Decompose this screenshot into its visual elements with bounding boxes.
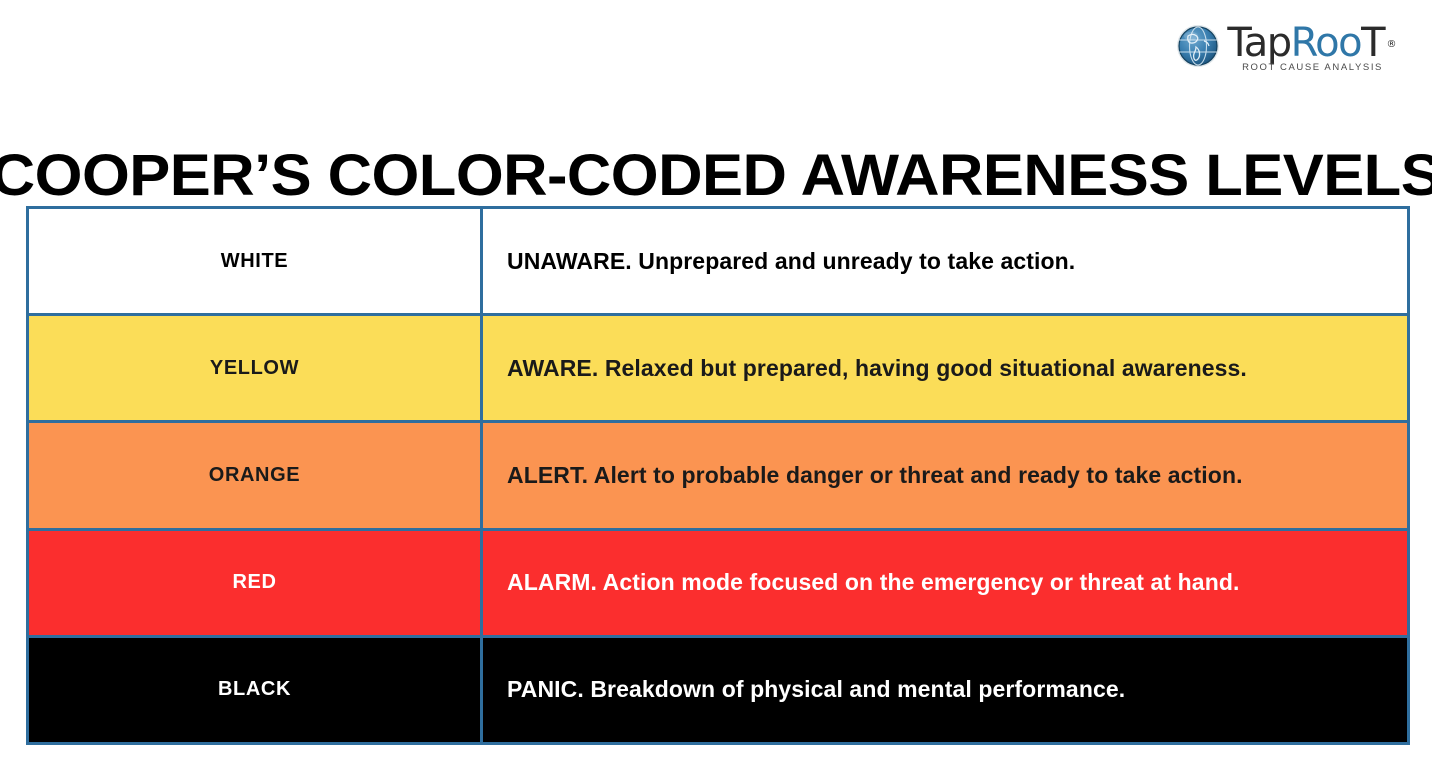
- description-cell-yellow: AWARE. Relaxed but prepared, having good…: [483, 316, 1407, 420]
- logo-wordmark: TapRooT®: [1227, 22, 1384, 64]
- awareness-levels-table: WHITE UNAWARE. Unprepared and unready to…: [26, 206, 1410, 745]
- description-cell-white: UNAWARE. Unprepared and unready to take …: [483, 209, 1407, 313]
- table-row: BLACK PANIC. Breakdown of physical and m…: [29, 638, 1407, 742]
- page-title: COOPER’S COLOR-CODED AWARENESS LEVELS: [0, 145, 1432, 207]
- infographic-page: TapRooT® ROOT CAUSE ANALYSIS COOPER’S CO…: [0, 0, 1432, 777]
- description-cell-orange: ALERT. Alert to probable danger or threa…: [483, 423, 1407, 527]
- table-row: ORANGE ALERT. Alert to probable danger o…: [29, 423, 1407, 527]
- logo-tagline: ROOT CAUSE ANALYSIS: [1242, 62, 1383, 73]
- logo-word-t: T: [1361, 20, 1384, 66]
- color-cell-orange: ORANGE: [29, 423, 480, 527]
- table-row: YELLOW AWARE. Relaxed but prepared, havi…: [29, 316, 1407, 420]
- logo-word-roo: Roo: [1291, 20, 1361, 66]
- color-cell-black: BLACK: [29, 638, 480, 742]
- table-row: RED ALARM. Action mode focused on the em…: [29, 531, 1407, 635]
- color-label: WHITE: [221, 250, 288, 273]
- globe-icon: [1176, 24, 1220, 68]
- table-row: WHITE UNAWARE. Unprepared and unready to…: [29, 209, 1407, 313]
- description-text: ALERT. Alert to probable danger or threa…: [507, 462, 1243, 489]
- color-label: ORANGE: [209, 464, 300, 487]
- color-cell-yellow: YELLOW: [29, 316, 480, 420]
- description-cell-red: ALARM. Action mode focused on the emerge…: [483, 531, 1407, 635]
- color-cell-red: RED: [29, 531, 480, 635]
- description-text: AWARE. Relaxed but prepared, having good…: [507, 355, 1247, 382]
- logo-word-tap: Tap: [1227, 20, 1290, 66]
- color-label: RED: [232, 571, 276, 594]
- color-cell-white: WHITE: [29, 209, 480, 313]
- taproot-logo: TapRooT® ROOT CAUSE ANALYSIS: [1176, 22, 1384, 74]
- description-text: ALARM. Action mode focused on the emerge…: [507, 569, 1240, 596]
- color-label: YELLOW: [210, 357, 299, 380]
- logo-text: TapRooT® ROOT CAUSE ANALYSIS: [1227, 22, 1384, 73]
- description-cell-black: PANIC. Breakdown of physical and mental …: [483, 638, 1407, 742]
- description-text: PANIC. Breakdown of physical and mental …: [507, 676, 1125, 703]
- color-label: BLACK: [218, 678, 291, 701]
- description-text: UNAWARE. Unprepared and unready to take …: [507, 248, 1075, 275]
- registered-trademark-icon: ®: [1387, 24, 1396, 66]
